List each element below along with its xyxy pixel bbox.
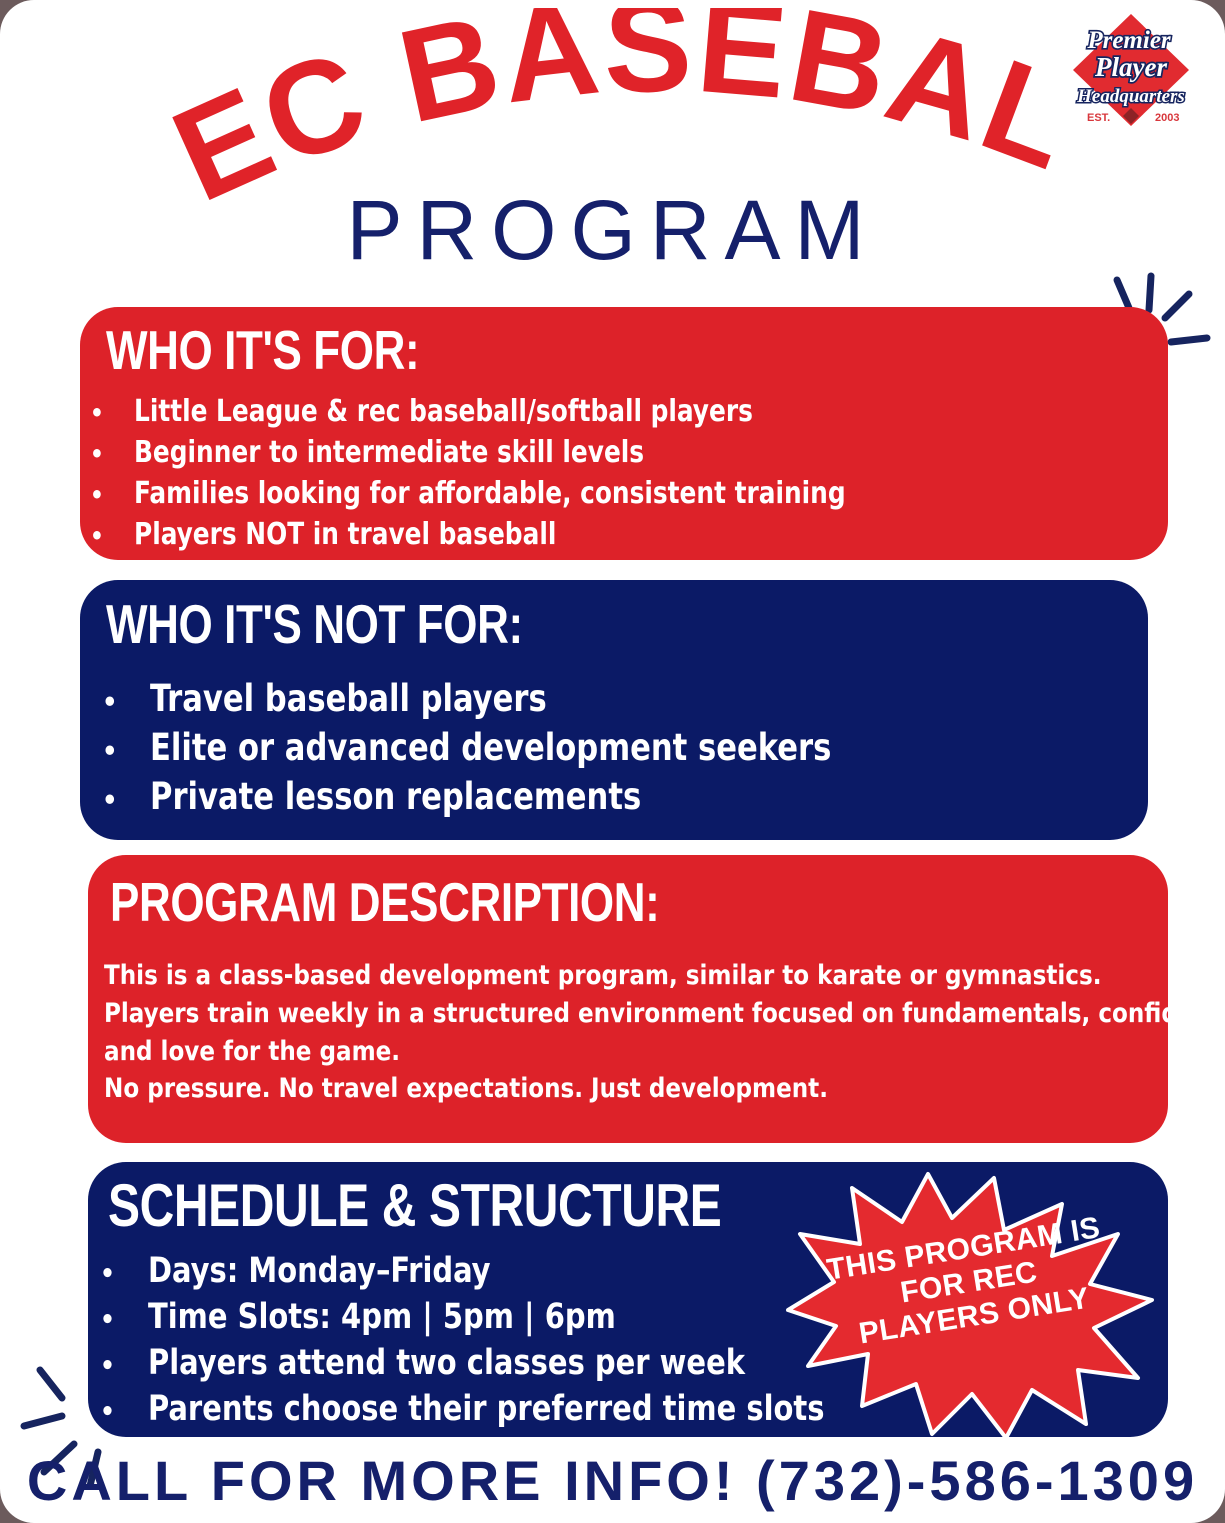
description-paragraph: and love for the game. (104, 1033, 1111, 1071)
premier-player-headquarters-logo: Premier Player Headquarters EST. 2003 (1055, 4, 1207, 144)
bullet-dot-icon: • (90, 524, 134, 548)
card-who-its-not-for: WHO IT'S NOT FOR: •Travel baseball playe… (80, 580, 1148, 840)
list-item: •Beginner to intermediate skill levels (90, 438, 1130, 468)
list-item-label: Travel baseball players (150, 680, 547, 717)
list-item: •Players attend two classes per week (100, 1346, 860, 1381)
bullet-list-schedule: •Days: Monday–Friday •Time Slots: 4pm | … (100, 1254, 860, 1438)
bullet-dot-icon: • (90, 401, 134, 425)
list-item-label: Time Slots: 4pm | 5pm | 6pm (148, 1300, 616, 1335)
list-item-label: Little League & rec baseball/softball pl… (134, 397, 753, 427)
bullet-dot-icon: • (90, 442, 134, 466)
list-item-label: Elite or advanced development seekers (150, 729, 831, 766)
list-item: •Days: Monday–Friday (100, 1254, 860, 1289)
logo-line3: Headquarters (1076, 86, 1185, 107)
card-schedule-and-structure: SCHEDULE & STRUCTURE •Days: Monday–Frida… (88, 1162, 1168, 1437)
logo-line2: Player (1094, 52, 1167, 82)
logo-est-left: EST. (1087, 112, 1110, 124)
bullet-list-who-its-for: •Little League & rec baseball/softball p… (90, 397, 1130, 561)
flyer-header: REC BASEBALL PROGRAM Premier Player Head… (0, 0, 1225, 300)
bullet-dot-icon: • (102, 738, 150, 765)
list-item: •Elite or advanced development seekers (102, 729, 1102, 766)
card-program-description: PROGRAM DESCRIPTION: This is a class-bas… (88, 855, 1168, 1143)
description-paragraph: No pressure. No travel expectations. Jus… (104, 1070, 1111, 1108)
card-title-schedule-and-structure: SCHEDULE & STRUCTURE (108, 1176, 721, 1236)
bullet-dot-icon: • (90, 483, 134, 507)
bullet-list-who-its-not-for: •Travel baseball players •Elite or advan… (102, 680, 1102, 827)
flyer-page: REC BASEBALL PROGRAM Premier Player Head… (0, 0, 1225, 1523)
starburst-badge: THIS PROGRAM IS FOR REC PLAYERS ONLY (756, 1160, 1176, 1448)
list-item: •Parents choose their preferred time slo… (100, 1392, 860, 1427)
page-subtitle: PROGRAM (0, 188, 1225, 272)
bullet-dot-icon: • (102, 689, 150, 716)
card-who-its-for: WHO IT'S FOR: •Little League & rec baseb… (80, 307, 1168, 560)
list-item: •Private lesson replacements (102, 778, 1102, 815)
list-item-label: Players NOT in travel baseball (134, 520, 556, 550)
logo-line1: Premier (1086, 27, 1171, 54)
list-item: •Families looking for affordable, consis… (90, 479, 1130, 509)
description-paragraph: This is a class-based development progra… (104, 957, 1111, 995)
list-item: •Players NOT in travel baseball (90, 520, 1130, 550)
list-item-label: Days: Monday–Friday (148, 1254, 491, 1289)
bullet-dot-icon: • (100, 1307, 148, 1333)
description-paragraph: Players train weekly in a structured env… (104, 995, 1111, 1033)
card-title-program-description: PROGRAM DESCRIPTION: (110, 875, 659, 930)
card-title-who-its-for: WHO IT'S FOR: (106, 323, 419, 378)
list-item: •Time Slots: 4pm | 5pm | 6pm (100, 1300, 860, 1335)
list-item-label: Beginner to intermediate skill levels (134, 438, 644, 468)
list-item-label: Private lesson replacements (150, 778, 641, 815)
card-title-who-its-not-for: WHO IT'S NOT FOR: (106, 597, 523, 652)
footer-call-to-action[interactable]: CALL FOR MORE INFO! (732)-586-1309 (0, 1448, 1225, 1513)
list-item: •Little League & rec baseball/softball p… (90, 397, 1130, 427)
logo-est-right: 2003 (1155, 112, 1179, 124)
list-item: •Travel baseball players (102, 680, 1102, 717)
program-description-body: This is a class-based development progra… (104, 957, 1164, 1108)
list-item-label: Players attend two classes per week (148, 1346, 745, 1381)
bullet-dot-icon: • (102, 787, 150, 814)
list-item-label: Families looking for affordable, consist… (134, 479, 846, 509)
bullet-dot-icon: • (100, 1261, 148, 1287)
list-item-label: Parents choose their preferred time slot… (148, 1392, 825, 1427)
